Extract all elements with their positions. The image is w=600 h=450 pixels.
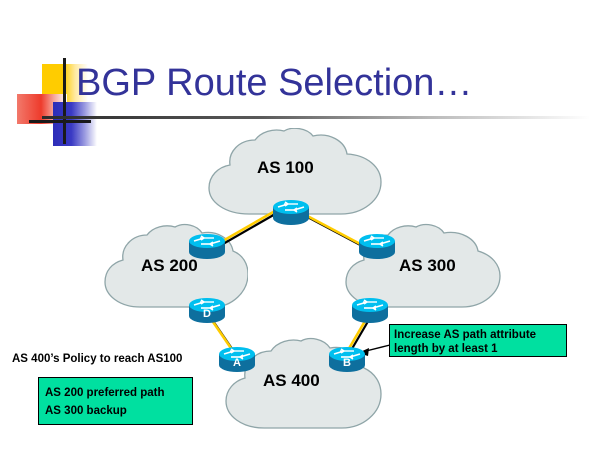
router-as400-b[interactable]: B [327,345,367,373]
router-as400-a[interactable]: A [217,345,257,373]
callout-policy-box: AS 200 preferred path AS 300 backup [38,377,193,425]
router-as200-d[interactable]: D [187,296,227,324]
policy-caption: AS 400’s Policy to reach AS100 [12,353,182,365]
router-as300-bottom[interactable] [350,296,390,324]
router-label-as400-a: A [217,358,257,369]
router-as300-top[interactable] [357,232,397,260]
slide-canvas: BGP Route Selection… AS 100 AS 200 AS 30… [0,0,600,450]
router-as200-top[interactable] [187,232,227,260]
router-label-as400-b: B [327,358,367,369]
policy-line-backup: AS 300 backup [45,402,192,420]
callout-aspath-note: Increase AS path attribute length by at … [389,324,567,357]
policy-line-preferred: AS 200 preferred path [45,384,192,402]
router-as100[interactable] [271,198,311,226]
callout-aspath-line1: Increase AS path attribute [394,328,562,342]
router-label-as200-d: D [187,309,227,320]
callout-aspath-line2: length by at least 1 [394,342,562,356]
